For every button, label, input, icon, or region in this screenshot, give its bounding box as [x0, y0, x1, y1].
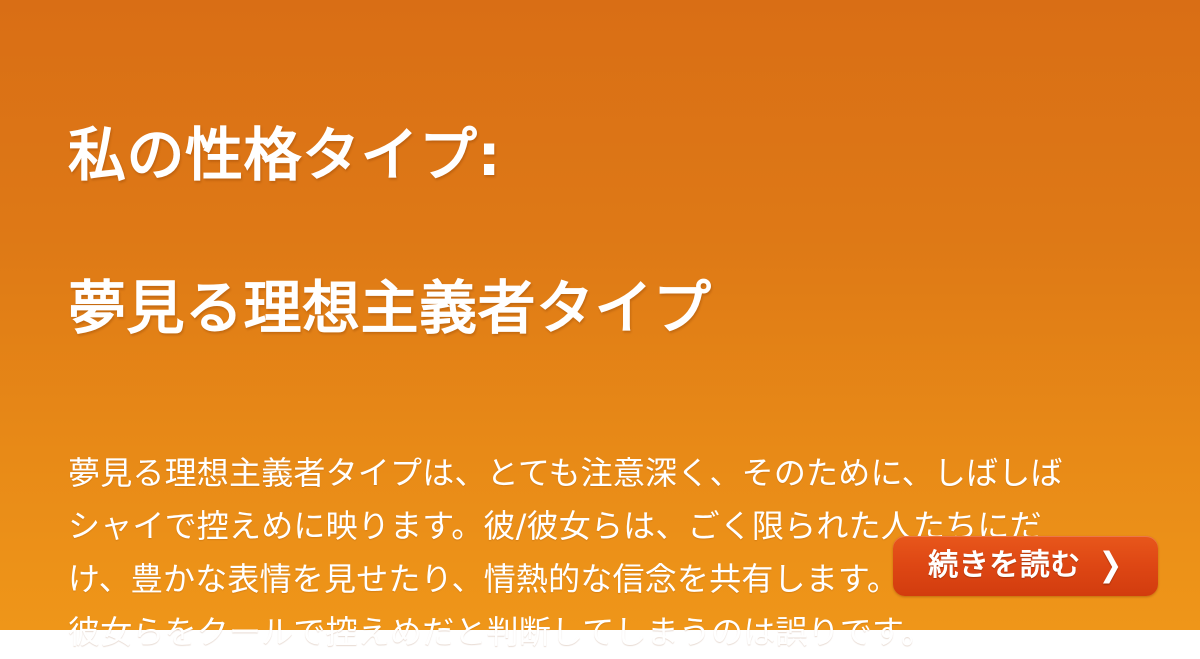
page-title-line-1: 私の性格タイプ: [68, 117, 1144, 194]
read-more-button[interactable]: 続きを読む ❯ [893, 536, 1158, 596]
personality-type-card: 私の性格タイプ: 夢見る理想主義者タイプ 夢見る理想主義者タイプは、とても注意深… [0, 0, 1200, 630]
chevron-right-icon: ❯ [1099, 548, 1123, 581]
cta-row: 続きを読む ❯ [0, 536, 1200, 596]
page-title-line-2: 夢見る理想主義者タイプ [68, 270, 1144, 347]
page-title: 私の性格タイプ: 夢見る理想主義者タイプ [68, 40, 1144, 423]
read-more-label: 続きを読む [928, 551, 1081, 581]
